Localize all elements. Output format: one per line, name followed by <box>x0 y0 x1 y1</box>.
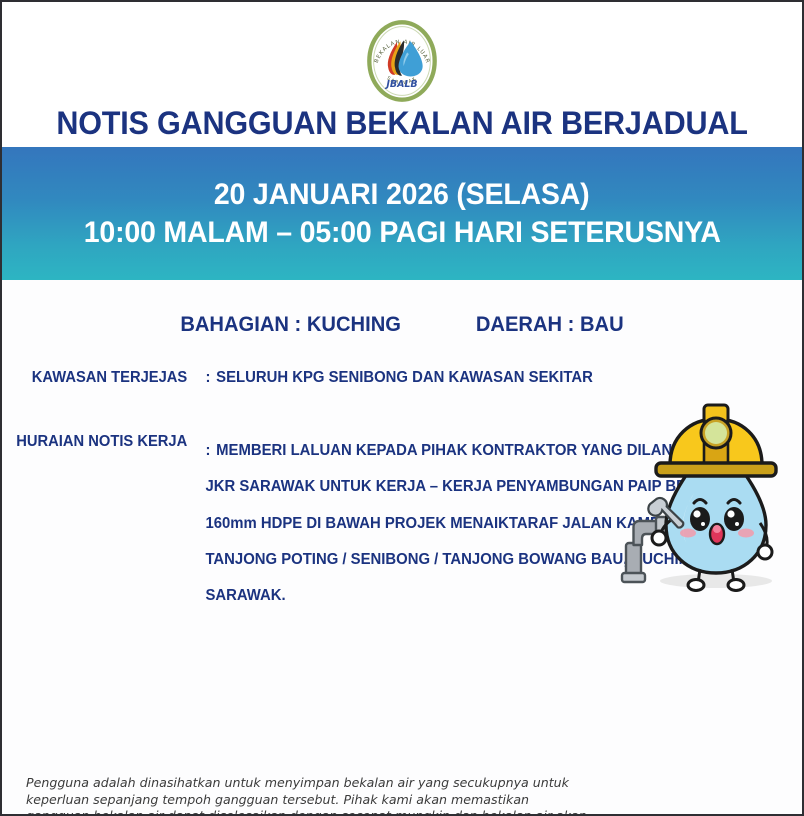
water-droplet-mascot <box>620 393 796 598</box>
location-row: BAHAGIAN : KUCHING DAERAH : BAU <box>18 313 786 337</box>
date-band: 20 JANUARI 2026 (SELASA) 10:00 MALAM – 0… <box>2 147 802 280</box>
advisory-note: Pengguna adalah dinasihatkan untuk menyi… <box>26 775 596 816</box>
hard-hat-icon <box>656 405 776 476</box>
time-line: 10:00 MALAM – 05:00 PAGI HARI SETERUSNYA <box>83 214 720 252</box>
svg-text:JBALB: JBALB <box>384 79 417 90</box>
kawasan-colon: : <box>205 369 210 386</box>
notice-poster: JABATAN BEKALAN AIR LUAR BANDAR SARAWAK … <box>0 0 804 816</box>
field-kawasan-terjejas: KAWASAN TERJEJAS :SELURUH KPG SENIBONG D… <box>2 369 802 387</box>
huraian-colon: : <box>205 442 210 459</box>
page-title: NOTIS GANGGUAN BEKALAN AIR BERJADUAL <box>26 105 778 142</box>
kawasan-value: SELURUH KPG SENIBONG DAN KAWASAN SEKITAR <box>216 369 593 386</box>
kawasan-value-wrap: :SELURUH KPG SENIBONG DAN KAWASAN SEKITA… <box>192 369 593 387</box>
bahagian-label: BAHAGIAN : KUCHING <box>180 313 401 337</box>
mascot-illustration <box>620 393 796 598</box>
jbalb-logo: JABATAN BEKALAN AIR LUAR BANDAR SARAWAK … <box>359 18 445 104</box>
poster-body: BAHAGIAN : KUCHING DAERAH : BAU KAWASAN … <box>2 313 802 614</box>
date-line: 20 JANUARI 2026 (SELASA) <box>214 176 590 214</box>
kawasan-label: KAWASAN TERJEJAS <box>7 369 188 387</box>
poster-header: JABATAN BEKALAN AIR LUAR BANDAR SARAWAK … <box>2 2 802 147</box>
huraian-label: HURAIAN NOTIS KERJA <box>7 433 188 614</box>
jbalb-logo-icon: JABATAN BEKALAN AIR LUAR BANDAR SARAWAK … <box>359 18 445 104</box>
daerah-label: DAERAH : BAU <box>476 313 624 337</box>
